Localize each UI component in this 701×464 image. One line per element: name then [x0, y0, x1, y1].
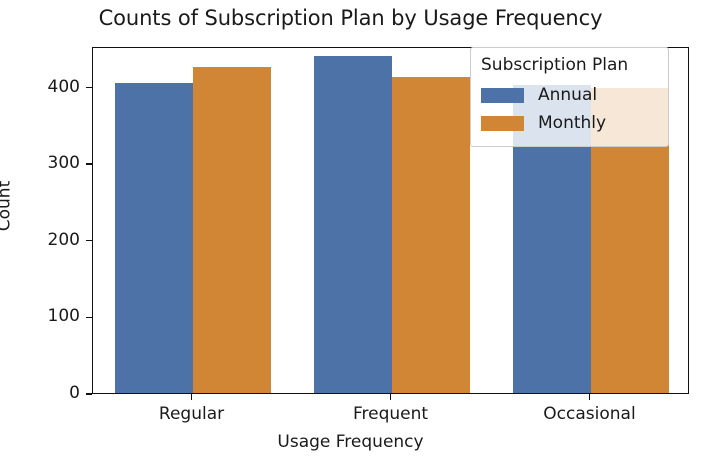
- bar-frequent-monthly: [392, 77, 470, 393]
- y-tick-label: 300: [48, 155, 80, 172]
- legend-title: Subscription Plan: [481, 55, 658, 75]
- bar-regular-monthly: [193, 67, 271, 393]
- legend-entry-monthly: Monthly: [481, 109, 658, 137]
- legend-entry-annual: Annual: [481, 81, 658, 109]
- legend-entries: AnnualMonthly: [481, 81, 658, 137]
- legend-swatch-monthly: [481, 116, 524, 131]
- legend-label-monthly: Monthly: [538, 113, 606, 133]
- y-tick-label: 100: [48, 308, 80, 325]
- legend: Subscription Plan AnnualMonthly: [470, 47, 669, 147]
- x-tick-mark: [390, 394, 391, 400]
- x-tick-mark: [191, 394, 192, 400]
- x-tick-mark: [589, 394, 590, 400]
- x-tick-label-occasional: Occasional: [543, 404, 635, 424]
- x-tick-label-regular: Regular: [159, 404, 224, 424]
- bar-regular-annual: [115, 83, 193, 393]
- legend-label-annual: Annual: [538, 85, 597, 105]
- bar-chart-figure: Counts of Subscription Plan by Usage Fre…: [0, 0, 701, 464]
- y-axis-label: Count: [0, 181, 14, 232]
- x-axis-label: Usage Frequency: [0, 432, 701, 452]
- y-tick-label: 0: [69, 385, 80, 402]
- x-tick-label-frequent: Frequent: [353, 404, 428, 424]
- bar-frequent-annual: [314, 56, 392, 393]
- y-tick-label: 200: [48, 232, 80, 249]
- legend-swatch-annual: [481, 88, 524, 103]
- chart-title: Counts of Subscription Plan by Usage Fre…: [0, 6, 701, 30]
- y-tick-label: 400: [48, 79, 80, 96]
